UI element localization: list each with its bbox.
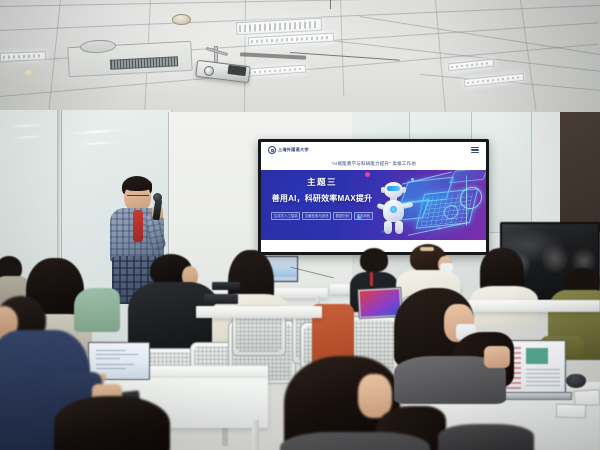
slide-main-title: 善用AI，科研效率MAX提升 bbox=[268, 194, 376, 203]
slide-screen: 上海外国语大学 "AI赋能教学与科研能力提升" 高级工作坊 主题三 bbox=[261, 142, 486, 252]
presenter-undershirt-strip bbox=[133, 210, 143, 242]
robot-leg bbox=[384, 221, 392, 234]
classroom-photo-scene: 上海外国语大学 "AI赋能教学与科研能力提升" 高级工作坊 主题三 bbox=[0, 0, 600, 450]
attendee-green-sleeve bbox=[74, 288, 120, 332]
slide-tag: 语言润色 bbox=[354, 212, 373, 221]
university-seal-icon bbox=[268, 146, 276, 154]
slide-tag-row: 生成式人工智能 文献检索与综述 数据分析 语言润色 bbox=[268, 212, 376, 221]
presentation-display: 上海外国语大学 "AI赋能教学与科研能力提升" 高级工作坊 主题三 bbox=[258, 139, 489, 255]
slide-body: 主题三 善用AI，科研效率MAX提升 生成式人工智能 文献检索与综述 数据分析 … bbox=[261, 170, 486, 240]
slide-header: 上海外国语大学 bbox=[261, 142, 486, 158]
robot-leg bbox=[395, 221, 403, 234]
presenter-glasses bbox=[127, 195, 149, 198]
smoke-detector-icon bbox=[24, 70, 35, 77]
attendee-hand bbox=[484, 346, 510, 368]
foreground-shoulder bbox=[438, 424, 534, 450]
handout-paper bbox=[556, 403, 586, 418]
slide-tag: 数据分析 bbox=[333, 212, 352, 221]
wall-far-right-dark-panel bbox=[560, 112, 600, 232]
slide-logo-text: 上海外国语大学 bbox=[278, 147, 309, 153]
presenter-hair-top bbox=[123, 178, 152, 191]
decor-dot bbox=[365, 172, 370, 177]
slide-subtitle-band: "AI赋能教学与科研能力提升" 高级工作坊 bbox=[261, 158, 486, 170]
attendee-ponytail-mid bbox=[394, 288, 514, 398]
computer-mouse bbox=[566, 374, 586, 388]
robot-chest-light bbox=[390, 206, 397, 213]
slide-topic-label: 主题三 bbox=[268, 178, 376, 187]
attendee-hair bbox=[54, 396, 170, 450]
laptop-screen-content bbox=[90, 344, 148, 378]
hair-clip-icon bbox=[420, 247, 434, 251]
hamburger-menu-icon[interactable] bbox=[471, 147, 479, 153]
robot-visor bbox=[387, 186, 400, 191]
attendee-body bbox=[74, 288, 120, 332]
attendee-body bbox=[280, 432, 430, 450]
desk bbox=[196, 306, 322, 318]
lanyard bbox=[370, 272, 373, 286]
slide-tag: 生成式人工智能 bbox=[271, 212, 300, 221]
desk-leg bbox=[252, 420, 259, 450]
slide-text-block: 主题三 善用AI，科研效率MAX提升 生成式人工智能 文献检索与综述 数据分析 … bbox=[268, 178, 376, 220]
keyboard bbox=[204, 294, 238, 304]
slide-subtitle: "AI赋能教学与科研能力提升" 高级工作坊 bbox=[331, 161, 416, 167]
robot-ear bbox=[381, 187, 385, 193]
robot-ear bbox=[402, 187, 406, 193]
microphone-head bbox=[153, 193, 162, 202]
ai-robot-mascot bbox=[377, 182, 411, 240]
smoke-detector-icon bbox=[172, 14, 191, 25]
projector-lens bbox=[204, 66, 214, 76]
ceiling bbox=[0, 0, 600, 122]
ceiling-light-strip bbox=[0, 51, 46, 62]
attendee-front-bottom-left bbox=[54, 396, 170, 450]
slide-logo: 上海外国语大学 bbox=[268, 146, 309, 154]
slide-tag: 文献检索与综述 bbox=[302, 212, 331, 221]
keyboard bbox=[212, 282, 240, 290]
